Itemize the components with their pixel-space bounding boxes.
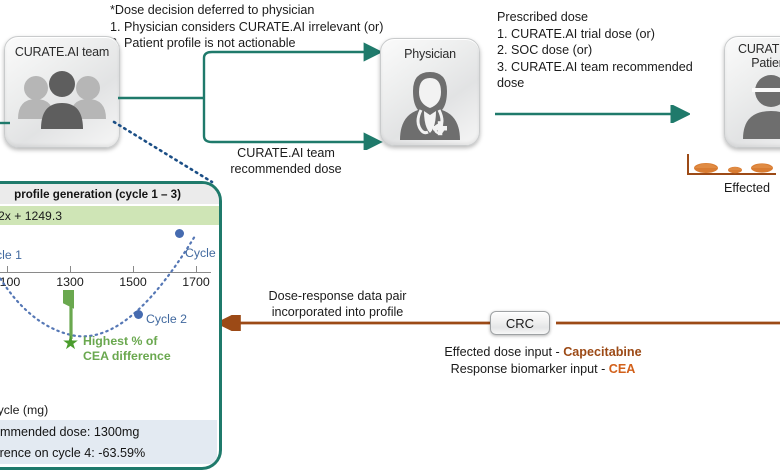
team-to-model-dotted-connector	[112, 120, 222, 188]
model-panel-header: profile generation (cycle 1 – 3)	[0, 184, 219, 204]
crc-input-dose-value: Capecitabine	[563, 345, 641, 359]
crc-inputs: Effected dose input - Capecitabine Respo…	[398, 344, 688, 378]
crc-input-biomarker-line: Response biomarker input - CEA	[398, 361, 688, 378]
crc-input-biomarker-prefix: Response biomarker input -	[451, 362, 609, 376]
curate-team-label: CURATE.AI team	[5, 45, 119, 59]
crc-box[interactable]: CRC	[490, 311, 550, 335]
team-recommended-dose-label: CURATE.AI team recommended dose	[206, 145, 366, 178]
plot-point-label-cycle2: Cycle 2	[146, 312, 187, 326]
curate-team-box[interactable]: CURATE.AI team	[4, 36, 120, 148]
dose-response-label: Dose-response data pair incorporated int…	[250, 288, 425, 321]
highest-cea-star-icon: ★	[62, 334, 79, 353]
highest-cea-note: Highest % of CEA difference	[83, 334, 171, 364]
female-doctor-icon	[381, 66, 479, 140]
people-group-icon	[5, 69, 119, 135]
recommended-dose-box: Recommended dose: 1300mg A difference on…	[0, 420, 217, 464]
patient-person-icon	[715, 73, 780, 141]
curate-patient-label-line1: CURATE.AI	[713, 42, 780, 56]
crc-input-dose-line: Effected dose input - Capecitabine	[398, 344, 688, 361]
curate-patient-box[interactable]: CURATE.AI Patient	[724, 36, 780, 148]
curate-patient-label-line2: Patient	[713, 56, 780, 70]
plot-point-cycle3	[175, 229, 184, 238]
cea-dose-plot: 1100 1300 1500 1700 Cycle 1 Cycle 2 Cycl…	[0, 226, 222, 401]
crc-label: CRC	[506, 316, 534, 331]
prescribed-dose-note: Prescribed dose 1. CURATE.AI trial dose …	[497, 9, 737, 92]
physician-label: Physician	[381, 47, 479, 61]
effected-dose-label: Effected	[724, 180, 770, 197]
plot-point-label-cycle1: Cycle 1	[0, 248, 22, 262]
incoming-teal-connector	[0, 118, 10, 128]
physician-box[interactable]: Physician	[380, 38, 480, 146]
plot-point-cycle2	[134, 310, 143, 319]
effected-dose-pills-icon	[684, 152, 780, 180]
diagram-canvas: *Dose decision deferred to physician 1. …	[0, 0, 780, 470]
curate-profile-panel: profile generation (cycle 1 – 3) C) = 0.…	[0, 181, 222, 470]
model-equation: C) = 0.0008x² - 2.02x + 1249.3	[0, 206, 222, 225]
crc-input-biomarker-value: CEA	[609, 362, 636, 376]
plot-x-axis-title: mulative dose per cycle (mg)	[0, 403, 48, 417]
physician-to-patient-arrow	[495, 105, 690, 123]
crc-input-dose-prefix: Effected dose input -	[444, 345, 563, 359]
plot-point-label-cycle3: Cycle 3	[185, 246, 222, 260]
